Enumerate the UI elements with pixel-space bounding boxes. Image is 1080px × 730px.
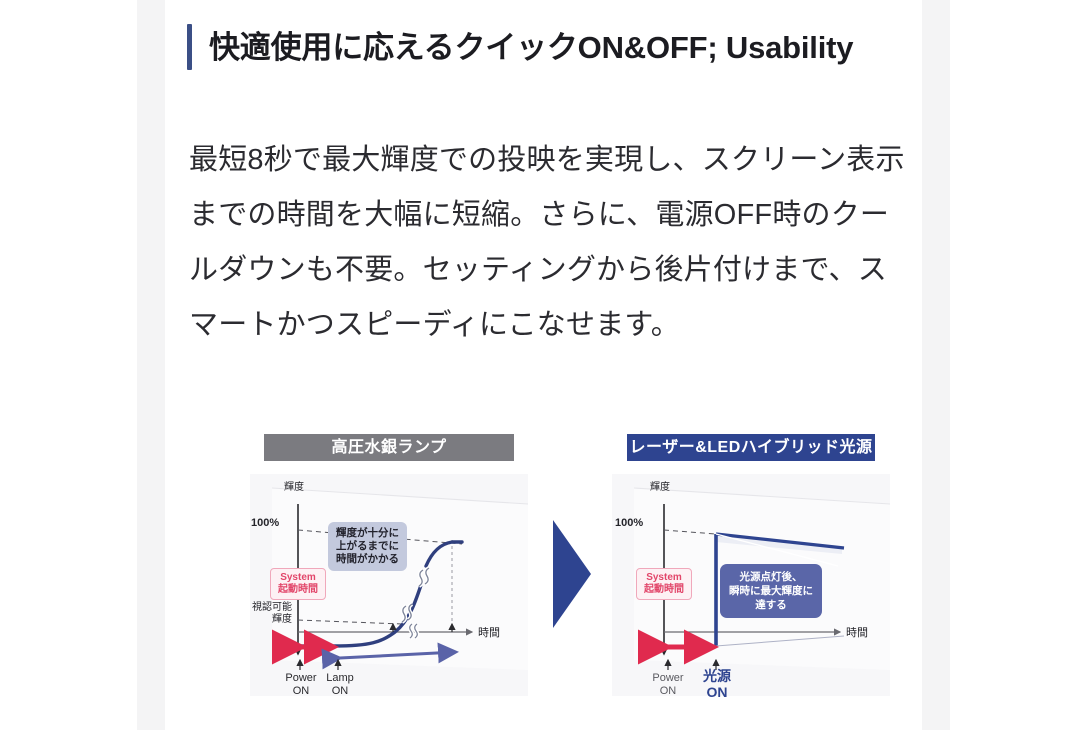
panel-laser-led-header: レーザー&LEDハイブリッド光源 bbox=[627, 434, 875, 461]
callout-mercury-line3: 時間がかかる bbox=[336, 553, 399, 566]
system-badge-right-line2: 起動時間 bbox=[644, 584, 684, 596]
marker-source-on-line2: ON bbox=[692, 684, 742, 700]
comparison-figure: 高圧水銀ランプ bbox=[250, 434, 890, 714]
y-tick-visible-line2: 輝度 bbox=[246, 614, 292, 626]
marker-source-on: 光源 ON bbox=[692, 668, 742, 700]
marker-lamp-on-line2: ON bbox=[315, 685, 365, 698]
x-axis-label-right: 時間 bbox=[846, 624, 868, 640]
marker-lamp-on-line1: Lamp bbox=[315, 672, 365, 685]
system-badge-left: System 起動時間 bbox=[270, 568, 326, 600]
callout-laser-line3: 達する bbox=[729, 598, 813, 612]
y-axis-label-left: 輝度 bbox=[284, 478, 304, 493]
system-badge-right-line1: System bbox=[644, 572, 684, 584]
body-paragraph: 最短8秒で最大輝度での投映を実現し、スクリーン表示までの時間を大幅に短縮。さらに… bbox=[189, 133, 905, 353]
chart-laser-led: 輝度 100% 時間 光源点灯後、 瞬時に最大輝度に 達する System 起動… bbox=[612, 474, 890, 696]
callout-mercury: 輝度が十分に 上がるまでに 時間がかかる bbox=[328, 522, 407, 571]
page-title: 快適使用に応えるクイックON&OFF; Usability bbox=[209, 32, 853, 63]
y-tick-100-left: 100% bbox=[251, 517, 279, 529]
callout-laser-line2: 瞬時に最大輝度に bbox=[729, 584, 813, 598]
callout-mercury-line2: 上がるまでに bbox=[336, 540, 399, 553]
marker-power-on-right: Power ON bbox=[643, 672, 693, 697]
left-gutter bbox=[137, 0, 165, 730]
system-badge-left-line1: System bbox=[278, 572, 318, 584]
y-tick-visible-left: 視認可能 輝度 bbox=[246, 602, 292, 626]
marker-power-on-right-line1: Power bbox=[643, 672, 693, 685]
system-badge-right: System 起動時間 bbox=[636, 568, 692, 600]
callout-laser-line1: 光源点灯後、 bbox=[729, 570, 813, 584]
x-axis-label-left: 時間 bbox=[478, 624, 500, 640]
heading-accent-bar bbox=[187, 24, 192, 70]
marker-lamp-on: Lamp ON bbox=[315, 672, 365, 697]
page-root: 快適使用に応えるクイックON&OFF; Usability 最短8秒で最大輝度で… bbox=[0, 0, 1080, 730]
panel-mercury-lamp-header: 高圧水銀ランプ bbox=[264, 434, 514, 461]
y-tick-visible-line1: 視認可能 bbox=[246, 602, 292, 614]
marker-power-on-right-line2: ON bbox=[643, 685, 693, 698]
chart-mercury-lamp: 輝度 100% 視認可能 輝度 時間 輝度が十分に 上がるまでに 時間がかかる bbox=[250, 474, 528, 696]
callout-mercury-line1: 輝度が十分に bbox=[336, 527, 399, 540]
panel-mercury-lamp: 高圧水銀ランプ bbox=[250, 434, 528, 696]
callout-laser: 光源点灯後、 瞬時に最大輝度に 達する bbox=[720, 564, 822, 618]
panel-laser-led: レーザー&LEDハイブリッド光源 bbox=[612, 434, 890, 696]
y-tick-100-right: 100% bbox=[615, 517, 643, 529]
y-axis-label-right: 輝度 bbox=[650, 478, 670, 493]
system-badge-left-line2: 起動時間 bbox=[278, 584, 318, 596]
right-gutter bbox=[922, 0, 950, 730]
content-column: 快適使用に応えるクイックON&OFF; Usability 最短8秒で最大輝度で… bbox=[165, 0, 922, 730]
page-heading: 快適使用に応えるクイックON&OFF; Usability bbox=[187, 24, 853, 70]
transition-arrow-icon bbox=[553, 520, 591, 628]
marker-source-on-line1: 光源 bbox=[692, 668, 742, 684]
